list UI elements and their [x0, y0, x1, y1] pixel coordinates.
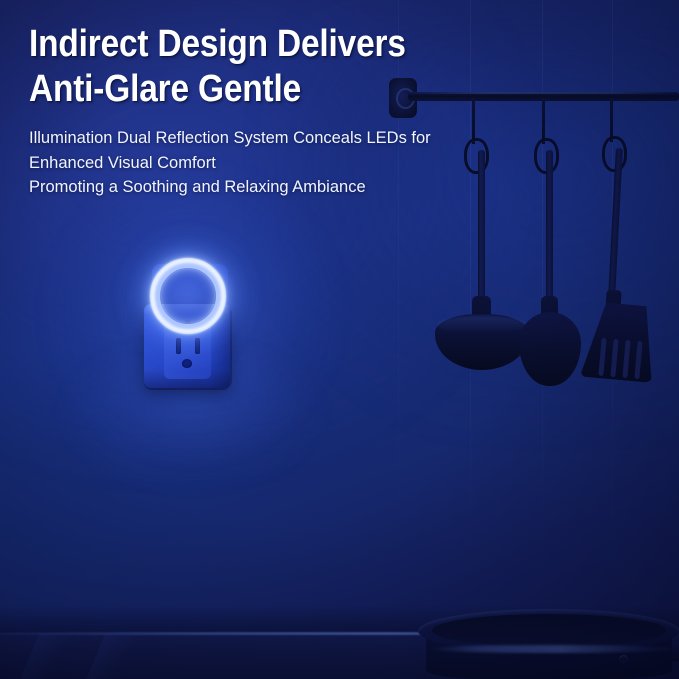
- copy-block: Indirect Design Delivers Anti-Glare Gent…: [29, 22, 549, 199]
- subheadline: Illumination Dual Reflection System Conc…: [29, 126, 549, 199]
- headline: Indirect Design Delivers Anti-Glare Gent…: [29, 22, 487, 112]
- product-lifestyle-banner: Indirect Design Delivers Anti-Glare Gent…: [0, 0, 679, 679]
